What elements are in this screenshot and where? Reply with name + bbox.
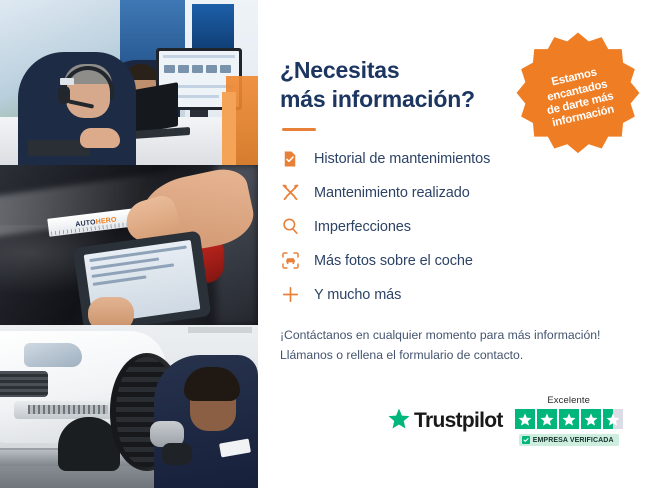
feature-label: Historial de mantenimientos: [314, 151, 490, 167]
screen-thumbnail: [164, 65, 175, 73]
star-rating: [515, 409, 623, 429]
mechanic-wheel-photo: [0, 325, 258, 488]
screen-thumbnail: [220, 65, 231, 73]
info-promo-card: AUTOHERO: [0, 0, 650, 488]
car-photo-frame-icon: [280, 251, 300, 271]
checklist-document-icon: [280, 149, 300, 169]
star-half: [603, 409, 623, 429]
feature-item-more-photos: Más fotos sobre el coche: [280, 251, 624, 271]
car-inspection-photo: AUTOHERO: [0, 165, 258, 325]
star-filled: [537, 409, 557, 429]
agent-hand: [80, 128, 120, 148]
car-headlight: [24, 343, 82, 367]
magnifier-icon: [280, 217, 300, 237]
wrench-screwdriver-icon: [280, 183, 300, 203]
trustpilot-star-icon: [388, 408, 410, 434]
plus-icon: [280, 285, 300, 305]
mechanic-glove-dark: [162, 443, 192, 465]
inspector-hand-holding-tablet: [88, 297, 134, 325]
feature-label: Y mucho más: [314, 287, 401, 303]
check-icon: [522, 436, 530, 444]
feature-label: Imperfecciones: [314, 219, 411, 235]
star-filled: [559, 409, 579, 429]
content-panel: ¿Necesitas más información? Historial de…: [258, 0, 650, 488]
contact-line-2: Llámanos o rellena el formulario de cont…: [280, 348, 523, 362]
mechanic-hair: [184, 367, 240, 401]
page-title: ¿Necesitas más información?: [280, 56, 510, 114]
page-title-line-2: más información?: [280, 86, 475, 112]
trustpilot-logo[interactable]: Trustpilot: [388, 408, 503, 434]
feature-label: Más fotos sobre el coche: [314, 253, 473, 269]
tablet-line: [93, 275, 147, 285]
uniform-logo-patch: [219, 439, 251, 458]
star-filled: [515, 409, 535, 429]
trustpilot-brand-name: Trustpilot: [414, 409, 503, 433]
trustpilot-rating[interactable]: Excelente: [515, 395, 623, 446]
contact-line-1: ¡Contáctanos en cualquier momento para m…: [280, 328, 600, 342]
status-badge: Estamos encantados de darte más informac…: [514, 30, 642, 158]
car-grille: [0, 371, 48, 397]
car-air-vent: [28, 405, 108, 414]
badge-text: Estamos encantados de darte más informac…: [522, 60, 635, 136]
screen-thumbnail: [206, 65, 217, 73]
call-center-agents-photo: [0, 0, 258, 165]
feature-item-imperfections: Imperfecciones: [280, 217, 624, 237]
verified-company-badge: EMPRESA VERIFICADA: [519, 434, 619, 446]
workshop-shelf: [188, 327, 252, 333]
feature-item-much-more: Y mucho más: [280, 285, 624, 305]
screen-thumbnail: [178, 65, 189, 73]
ruler-brand-right: HERO: [95, 216, 117, 226]
rating-label: Excelente: [547, 395, 590, 406]
feature-item-maintenance-done: Mantenimiento realizado: [280, 183, 624, 203]
page-title-line-1: ¿Necesitas: [280, 57, 399, 83]
title-divider: [282, 128, 316, 131]
feature-list: Historial de mantenimientos Mantenimient…: [280, 149, 624, 305]
photo-column: AUTOHERO: [0, 0, 258, 488]
orange-shelving-bar: [222, 92, 236, 165]
feature-label: Mantenimiento realizado: [314, 185, 470, 201]
ruler-brand-left: AUTO: [75, 219, 96, 228]
agent-name-badge: [60, 78, 74, 85]
star-filled: [581, 409, 601, 429]
wall-poster: [192, 4, 234, 52]
screen-thumbnails: [164, 65, 231, 73]
screen-thumbnail: [192, 65, 203, 73]
verified-label: EMPRESA VERIFICADA: [533, 437, 614, 444]
screen-bar: [163, 55, 235, 58]
contact-text: ¡Contáctanos en cualquier momento para m…: [280, 325, 624, 367]
trustpilot-widget[interactable]: Trustpilot Excelente: [388, 395, 623, 446]
